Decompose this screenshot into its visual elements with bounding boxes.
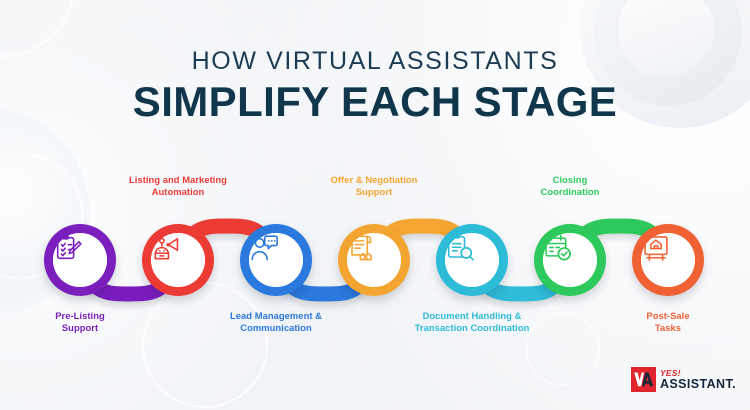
document-magnifier-icon xyxy=(445,233,499,287)
title-line-1: HOW VIRTUAL ASSISTANTS xyxy=(0,48,750,74)
megaphone-robot-icon xyxy=(151,233,205,287)
stage-label-6: Closing Coordination xyxy=(495,174,645,198)
stage-node-3[interactable] xyxy=(240,224,312,296)
page-title: HOW VIRTUAL ASSISTANTS SIMPLIFY EACH STA… xyxy=(0,48,750,125)
clipboard-pencil-icon xyxy=(53,233,107,287)
logo-yes-text: YES! xyxy=(660,369,736,378)
stage-node-2[interactable] xyxy=(142,224,214,296)
stage-label-3: Lead Management & Communication xyxy=(201,310,351,334)
brand-logo[interactable]: YES! ASSISTANT. xyxy=(631,367,736,392)
stage-node-1[interactable] xyxy=(44,224,116,296)
contract-handshake-icon xyxy=(347,233,401,287)
logo-assistant-text: ASSISTANT. xyxy=(660,378,736,391)
house-sign-icon xyxy=(641,233,695,287)
stage-nodes: Pre-Listing Support Listing and Marketin… xyxy=(0,168,750,348)
title-line-2: SIMPLIFY EACH STAGE xyxy=(0,78,750,125)
stage-node-5[interactable] xyxy=(436,224,508,296)
process-flow: Pre-Listing Support Listing and Marketin… xyxy=(0,168,750,348)
ya-monogram-icon xyxy=(631,367,656,392)
stage-node-7[interactable] xyxy=(632,224,704,296)
stage-label-4: Offer & Negotiation Support xyxy=(299,174,449,198)
stage-node-6[interactable] xyxy=(534,224,606,296)
stage-node-4[interactable] xyxy=(338,224,410,296)
calendar-check-icon xyxy=(543,233,597,287)
infographic-canvas: HOW VIRTUAL ASSISTANTS SIMPLIFY EACH STA… xyxy=(0,0,750,410)
stage-label-2: Listing and Marketing Automation xyxy=(103,174,253,198)
stage-label-1: Pre-Listing Support xyxy=(5,310,155,334)
stage-label-7: Post-Sale Tasks xyxy=(593,310,743,334)
person-speech-bubble-icon xyxy=(249,233,303,287)
decorative-ring-right xyxy=(608,128,652,172)
stage-label-5: Document Handling & Transaction Coordina… xyxy=(397,310,547,334)
